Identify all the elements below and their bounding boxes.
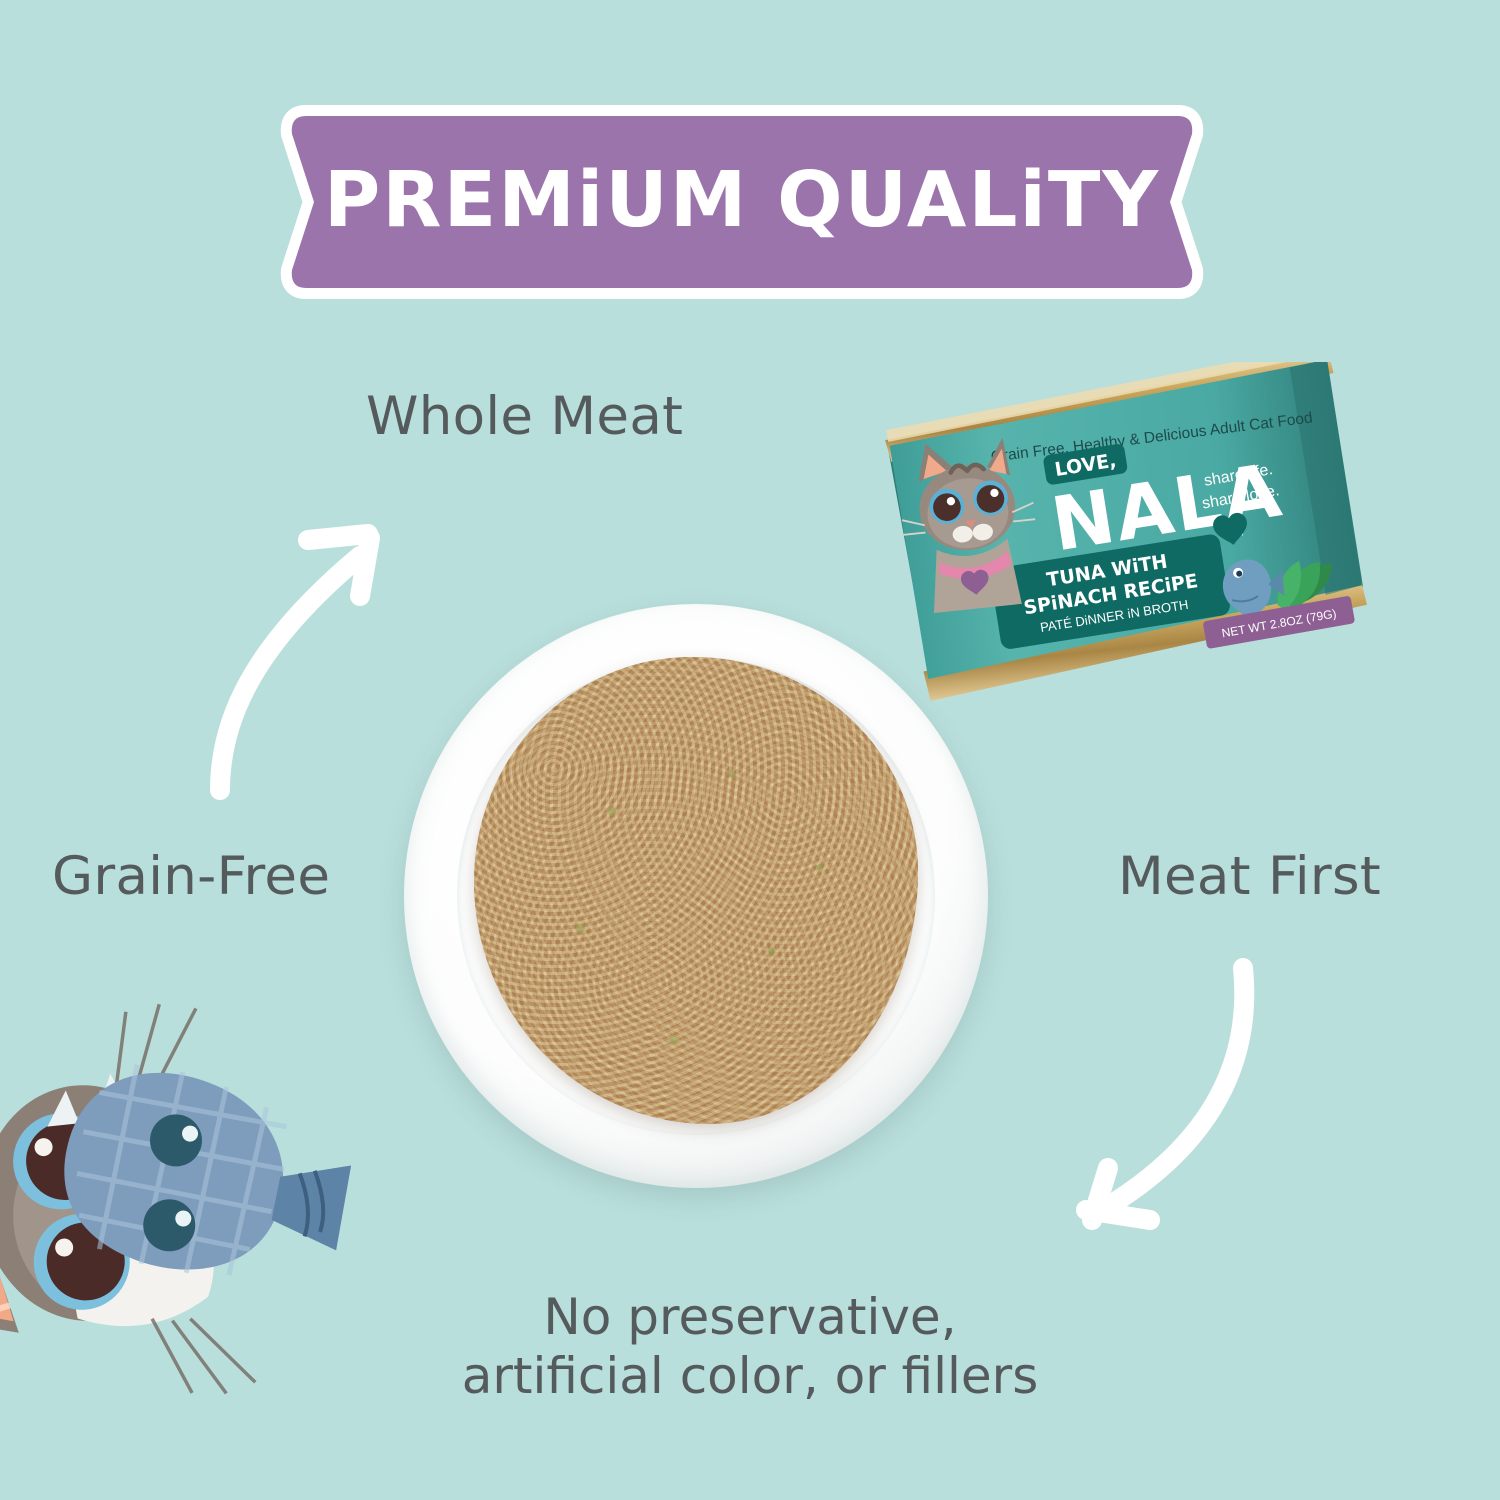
product-can: Grain Free, Healthy & Delicious Adult Ca…	[876, 362, 1368, 722]
feature-label-grain-free: Grain-Free	[52, 846, 330, 907]
feature-label-meat-first: Meat First	[1118, 846, 1381, 907]
curved-arrow-up-right-icon	[180, 498, 410, 808]
can-artwork-icon: Grain Free, Healthy & Delicious Adult Ca…	[876, 362, 1368, 722]
cat-fish-artwork-icon	[0, 980, 354, 1420]
banner-title: PREMiUM QUALiTY	[272, 98, 1212, 306]
premium-quality-banner: PREMiUM QUALiTY	[272, 98, 1212, 306]
feature-label-whole-meat: Whole Meat	[366, 386, 683, 447]
curved-arrow-down-left-icon	[1040, 928, 1270, 1246]
poster-canvas: PREMiUM QUALiTY Whole Meat Grain-Free Me…	[0, 0, 1500, 1500]
cat-with-fish-illustration	[0, 980, 354, 1420]
